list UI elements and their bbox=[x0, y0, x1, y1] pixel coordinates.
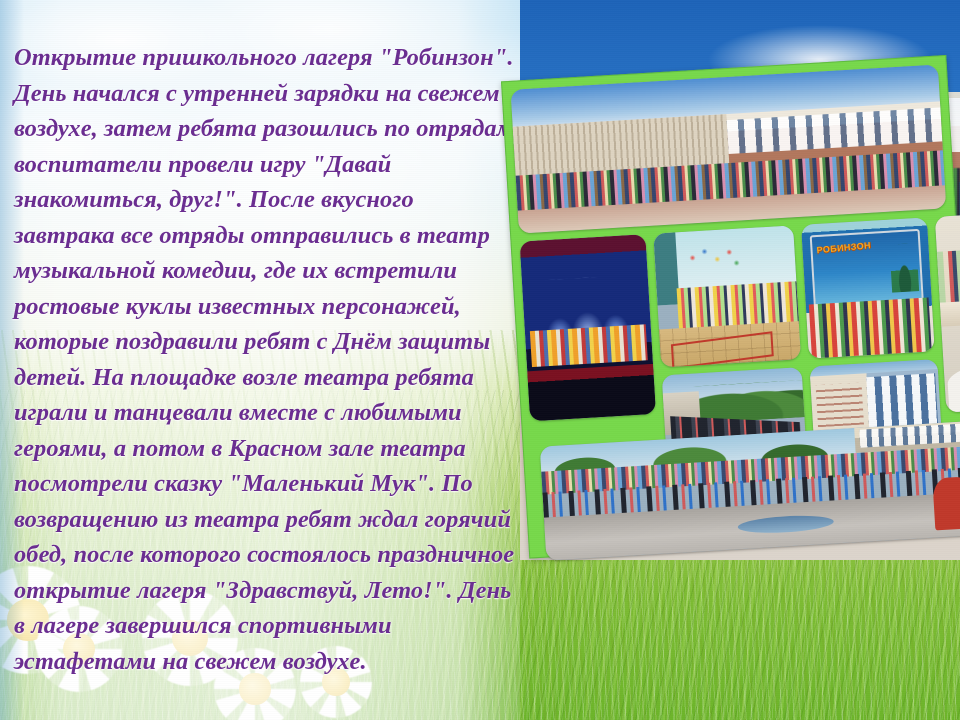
robinzon-banner: РОБИНЗОН bbox=[809, 229, 924, 308]
stage-audience bbox=[527, 363, 656, 421]
balloons bbox=[685, 245, 743, 283]
gym-floor bbox=[659, 322, 801, 368]
article-paragraph: Открытие пришкольного лагеря "Робинзон".… bbox=[14, 40, 520, 679]
banner-children bbox=[808, 298, 932, 359]
canteen-diners bbox=[937, 244, 960, 303]
photo-gym-balloons[interactable]: Дети в зале с воздушными шарами bbox=[653, 225, 801, 367]
photo-theatre-stage[interactable]: Сцена театра музыкальной комедии bbox=[520, 234, 656, 421]
collage-grid: Большая группа детей перед зданием школы… bbox=[511, 64, 960, 549]
photo-relay-race[interactable]: Спортивная эстафета на свежем воздухе bbox=[540, 421, 960, 561]
photo-collage-panel[interactable]: Большая группа детей перед зданием школы… bbox=[501, 55, 960, 559]
relay-foreground-person bbox=[932, 476, 960, 531]
article-text-block: Открытие пришкольного лагеря "Робинзон".… bbox=[14, 40, 520, 679]
banner-title-text: РОБИНЗОН bbox=[816, 238, 889, 255]
photo-school-assembly[interactable]: Большая группа детей перед зданием школы bbox=[511, 64, 947, 233]
stage-actors bbox=[530, 324, 648, 367]
photo-robinzon-banner[interactable]: РОБИНЗОН Дети у баннера "РОБИНЗОН" bbox=[801, 217, 935, 358]
slide-canvas: Открытие пришкольного лагеря "Робинзон".… bbox=[0, 0, 960, 720]
